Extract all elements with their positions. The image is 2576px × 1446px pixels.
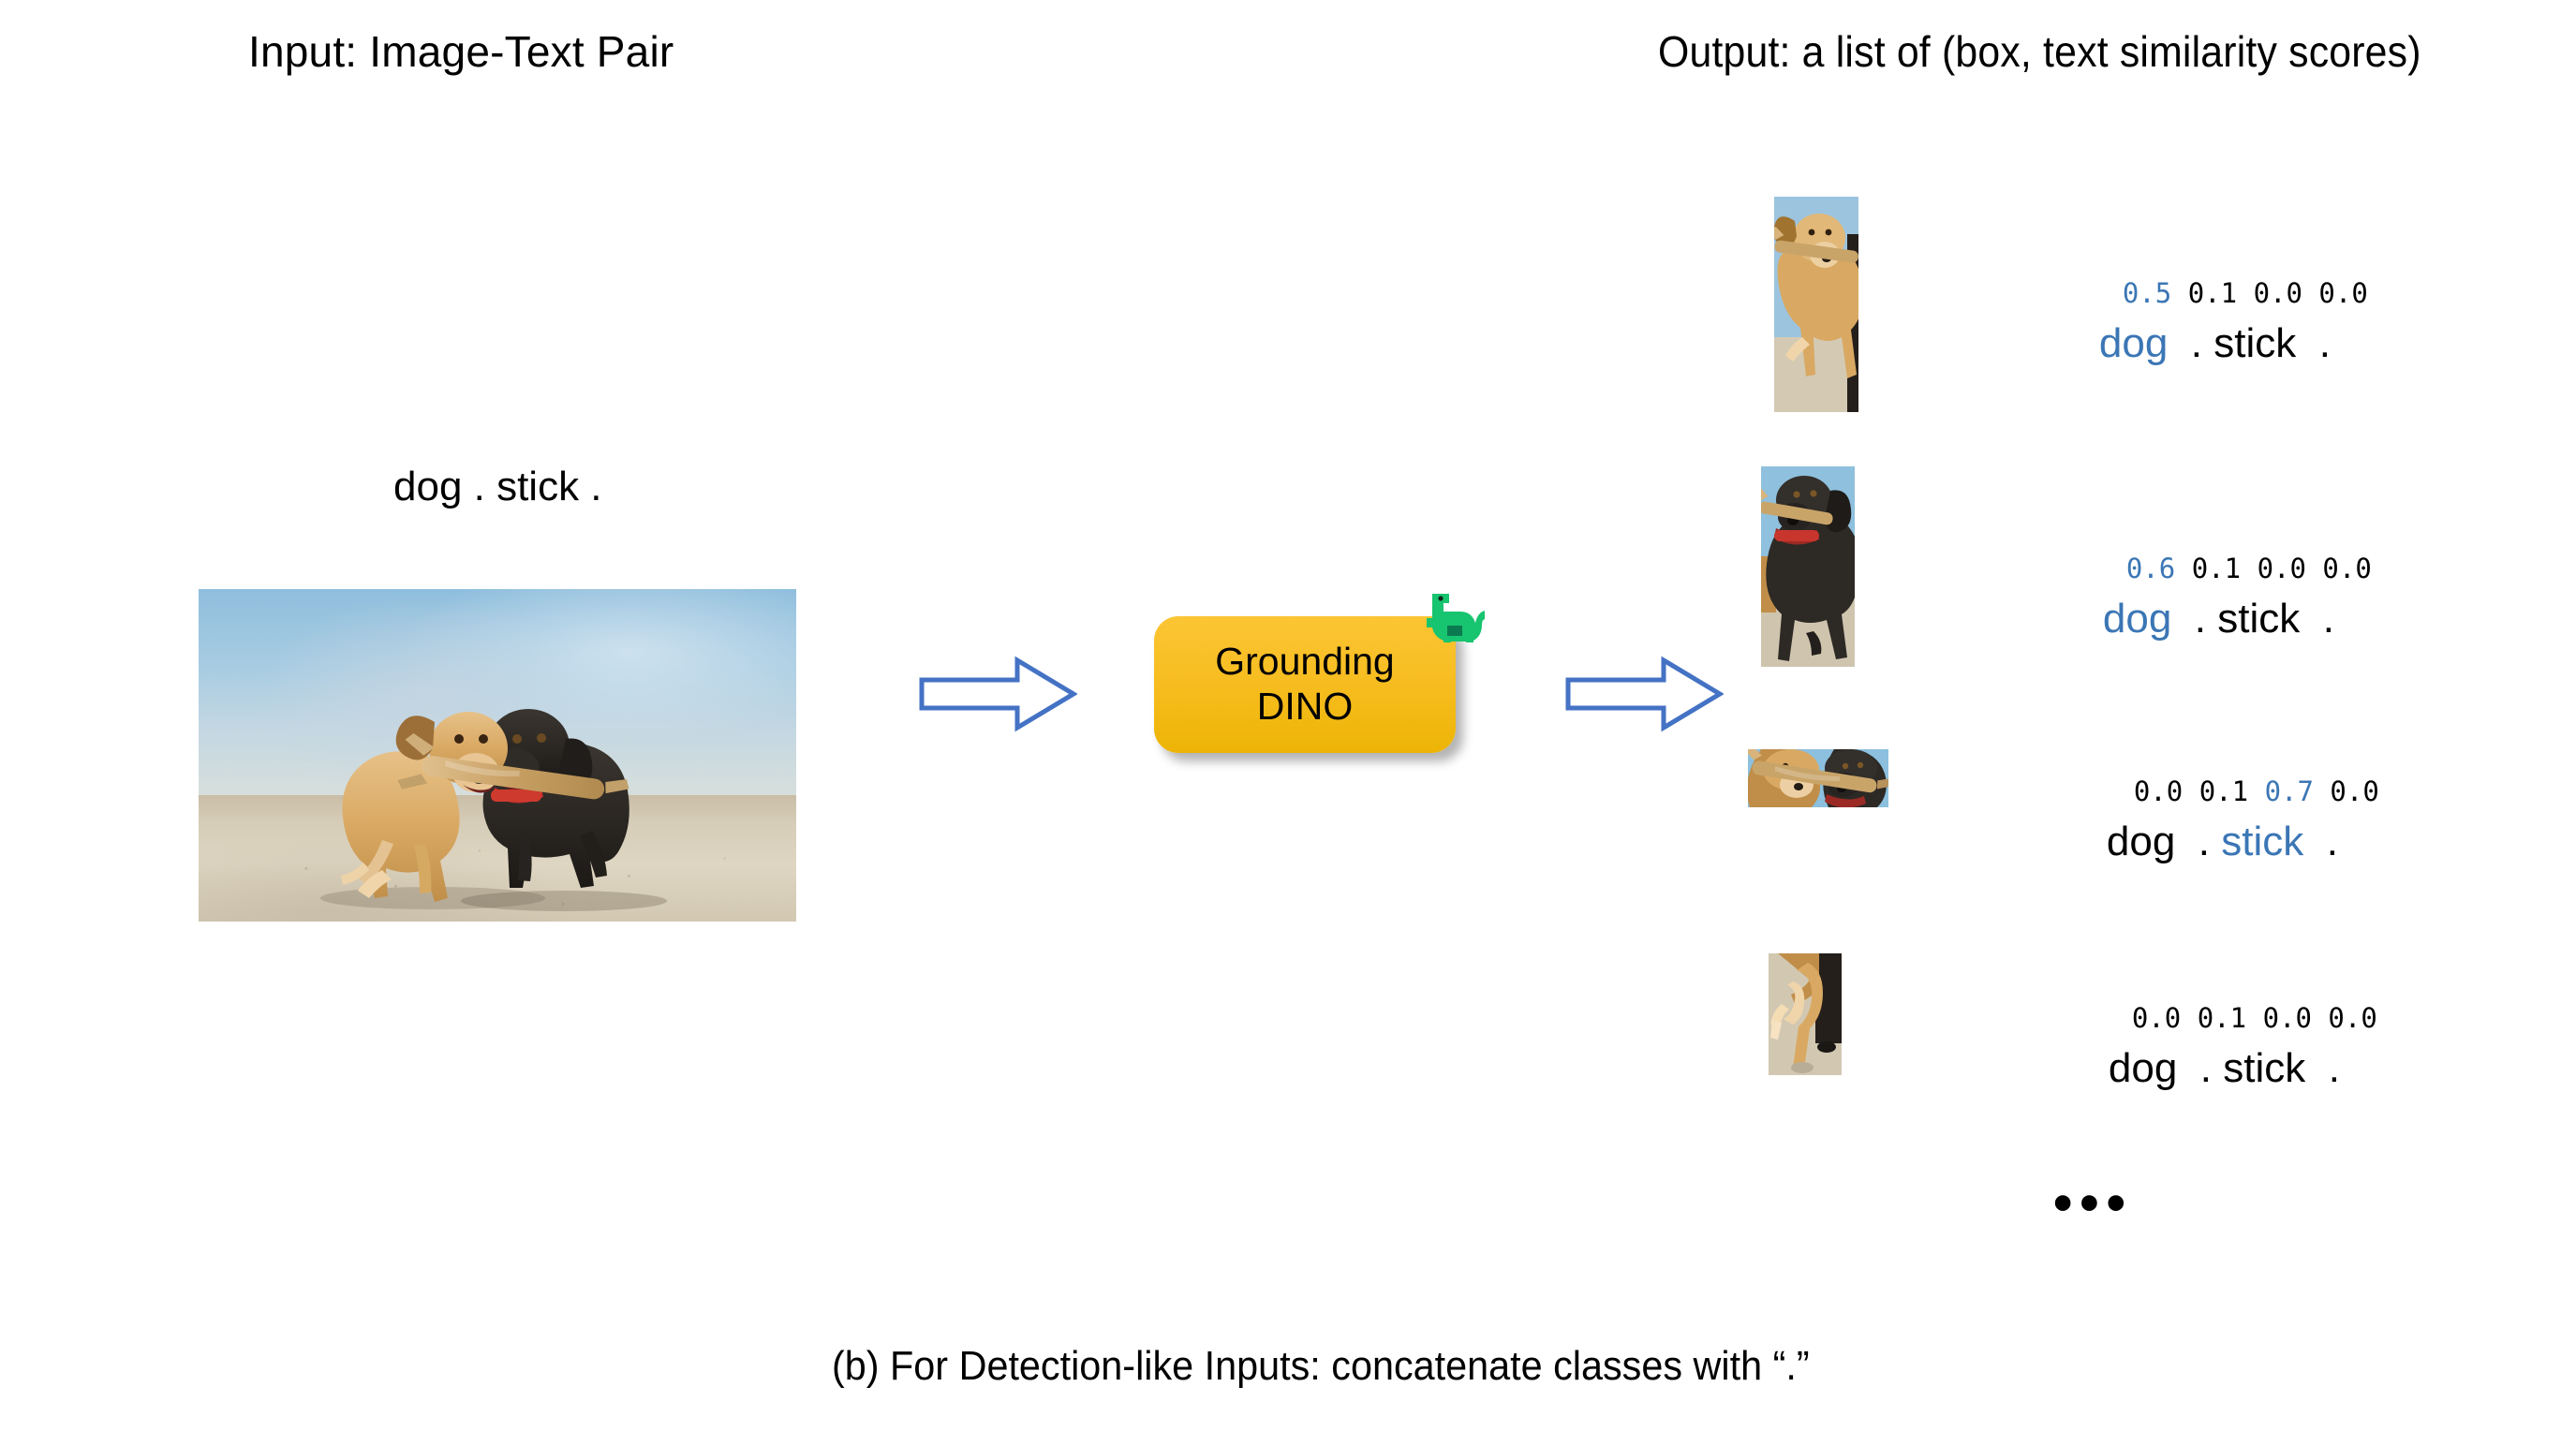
thumb-image-black-dog	[1761, 466, 1855, 667]
token-stick: stick	[2223, 1045, 2305, 1091]
token-stick: stick	[2217, 596, 2300, 642]
dogs-illustration	[199, 589, 796, 922]
token-dot: .	[2198, 819, 2210, 864]
token-stick: stick	[2221, 819, 2303, 864]
token-dog: dog	[2103, 596, 2171, 642]
output-tokens-3: dog . stick .	[2061, 772, 2338, 912]
output-header: Output: a list of (box, text similarity …	[1658, 26, 2421, 77]
token-dot: .	[2200, 1045, 2212, 1091]
input-prompt-text: dog . stick .	[393, 464, 602, 510]
more-results-ellipsis: •••	[2053, 1176, 2133, 1231]
token-dot: .	[2195, 596, 2206, 642]
token-dog: dog	[2107, 819, 2175, 864]
arrow-input-to-model	[918, 656, 1077, 737]
output-thumb-1	[1774, 197, 1858, 412]
model-box[interactable]: Grounding DINO	[1154, 616, 1456, 753]
output-tokens-4: dog . stick .	[2063, 998, 2340, 1139]
figure-caption: (b) For Detection-like Inputs: concatena…	[832, 1343, 1810, 1390]
input-image	[199, 589, 796, 922]
token-stick: stick	[2213, 320, 2296, 366]
token-dog: dog	[2099, 320, 2168, 366]
dinosaur-icon	[1423, 584, 1485, 642]
token-dot: .	[2323, 596, 2334, 642]
thumb-image-tan-dog	[1774, 197, 1858, 412]
beach-scene	[199, 589, 796, 922]
token-dot: .	[2319, 320, 2331, 366]
thumb-image-dog-legs	[1769, 953, 1842, 1075]
token-dot: .	[2329, 1045, 2340, 1091]
output-tokens-2: dog . stick .	[2057, 549, 2334, 689]
output-tokens-1: dog . stick .	[2053, 273, 2331, 414]
token-dot: .	[2327, 819, 2338, 864]
output-thumb-2	[1761, 466, 1855, 667]
model-name-line1: Grounding	[1215, 640, 1394, 685]
thumb-image-stick	[1748, 749, 1888, 807]
token-dog: dog	[2109, 1045, 2177, 1091]
output-thumb-4	[1769, 953, 1842, 1075]
figure-canvas: Input: Image-Text Pair Output: a list of…	[0, 0, 2576, 1446]
input-header: Input: Image-Text Pair	[248, 26, 674, 77]
arrow-model-to-output	[1564, 656, 1724, 737]
model-name-line2: DINO	[1257, 685, 1354, 730]
token-dot: .	[2191, 320, 2202, 366]
output-thumb-3	[1748, 749, 1888, 807]
